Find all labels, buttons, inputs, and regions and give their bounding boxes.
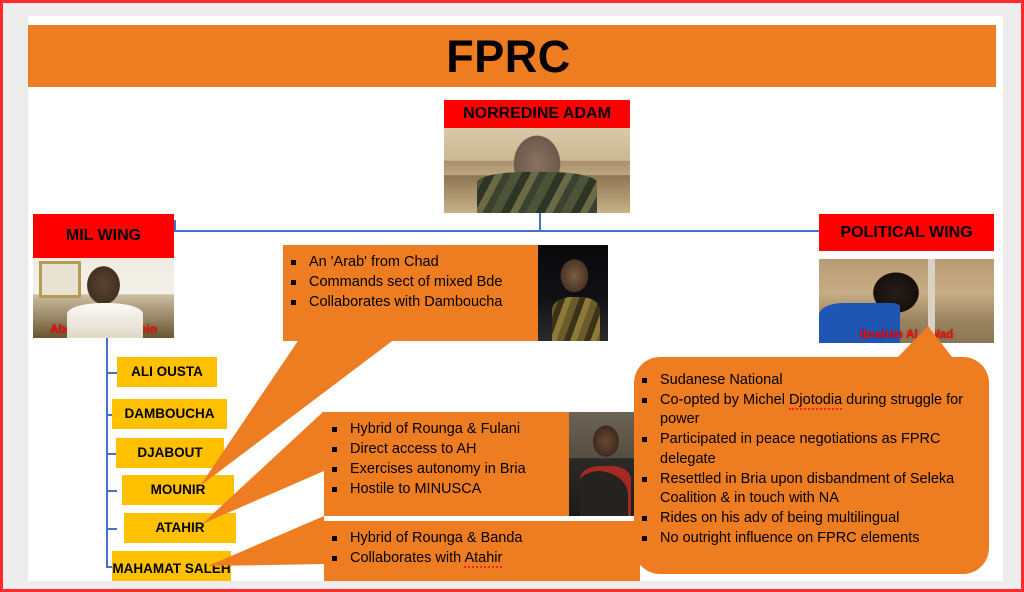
node-commander-djabout[interactable]: DJABOUT: [116, 438, 224, 468]
node-mil-wing-label: MIL WING: [66, 227, 141, 245]
photo-norredine-adam: [444, 128, 630, 213]
connector-top-vertical: [539, 212, 541, 231]
slide-header-band: FPRC: [28, 25, 996, 87]
callout-chad-arab[interactable]: An 'Arab' from Chad Commands sect of mix…: [283, 245, 608, 341]
node-mil-wing[interactable]: MIL WING: [33, 214, 174, 258]
node-norredine-adam-text: NORREDINE ADAM: [463, 105, 611, 123]
commander-label: MAHAMAT SALEH: [112, 562, 230, 576]
photo-mounir: [569, 412, 640, 516]
photo-chad-commander: [538, 245, 608, 341]
bullet: Sudanese National: [634, 371, 979, 390]
node-norredine-adam-label[interactable]: NORREDINE ADAM: [444, 100, 630, 128]
bullet: Collaborates with Atahir: [324, 549, 640, 568]
photo-ibrahim-al-wad: Ibrahim Al - Wad: [819, 259, 994, 343]
connector-stub-1: [106, 372, 117, 374]
node-commander-mahamat-saleh[interactable]: MAHAMAT SALEH: [112, 551, 231, 581]
node-commander-atahir[interactable]: ATAHIR: [124, 513, 236, 543]
commander-label: ATAHIR: [156, 521, 205, 535]
commander-label: DJABOUT: [137, 446, 202, 460]
callout-atahir[interactable]: Hybrid of Rounga & Banda Collaborates wi…: [324, 521, 640, 581]
commander-label: ALI OUSTA: [131, 365, 203, 379]
node-political-wing-label: POLITICAL WING: [840, 224, 972, 242]
connector-stub-4: [106, 490, 117, 492]
photo-caption-abdoulaye-hissein: Abdoulaye Hissein: [33, 322, 174, 336]
bullet: No outright influence on FPRC elements: [634, 529, 979, 548]
bullet: Hybrid of Rounga & Banda: [324, 529, 640, 548]
photo-caption-ibrahim-al-wad: Ibrahim Al - Wad: [819, 327, 994, 341]
bullet: Rides on his adv of being multilingual: [634, 509, 979, 528]
misspelled-word-atahir: Atahir: [464, 550, 502, 568]
connector-stub-5: [106, 528, 117, 530]
slide-canvas: FPRC NORREDINE ADAM MIL WING Abdoulaye H…: [28, 16, 1003, 581]
bullet: Co-opted by Michel Djotodia during strug…: [634, 391, 979, 429]
screenshot-frame: FPRC NORREDINE ADAM MIL WING Abdoulaye H…: [0, 0, 1024, 592]
bullet: Participated in peace negotiations as FP…: [634, 430, 979, 468]
photo-abdoulaye-hissein: Abdoulaye Hissein: [33, 258, 174, 338]
node-commander-mounir[interactable]: MOUNIR: [122, 475, 234, 505]
node-commander-ali-ousta[interactable]: ALI OUSTA: [117, 357, 217, 387]
commander-label: MOUNIR: [151, 483, 206, 497]
misspelled-word-djotodia: Djotodia: [789, 392, 842, 410]
callout-mounir[interactable]: Hybrid of Rounga & Fulani Direct access …: [324, 412, 640, 516]
bullet-text-pre: Co-opted by Michel: [660, 392, 789, 408]
node-commander-damboucha[interactable]: DAMBOUCHA: [112, 399, 227, 429]
callout-political-profile[interactable]: Sudanese National Co-opted by Michel Djo…: [634, 357, 989, 574]
commander-label: DAMBOUCHA: [125, 407, 215, 421]
page-title: FPRC: [28, 25, 996, 87]
bullet: Resettled in Bria upon disbandment of Se…: [634, 470, 979, 508]
connector-mil-wing: [174, 220, 176, 232]
connector-horizontal-spine: [174, 230, 895, 232]
callout-political-list: Sudanese National Co-opted by Michel Djo…: [634, 371, 979, 548]
callout-atahir-list: Hybrid of Rounga & Banda Collaborates wi…: [324, 529, 640, 568]
bullet-text-pre: Collaborates with: [350, 550, 464, 566]
node-political-wing[interactable]: POLITICAL WING: [819, 214, 994, 251]
